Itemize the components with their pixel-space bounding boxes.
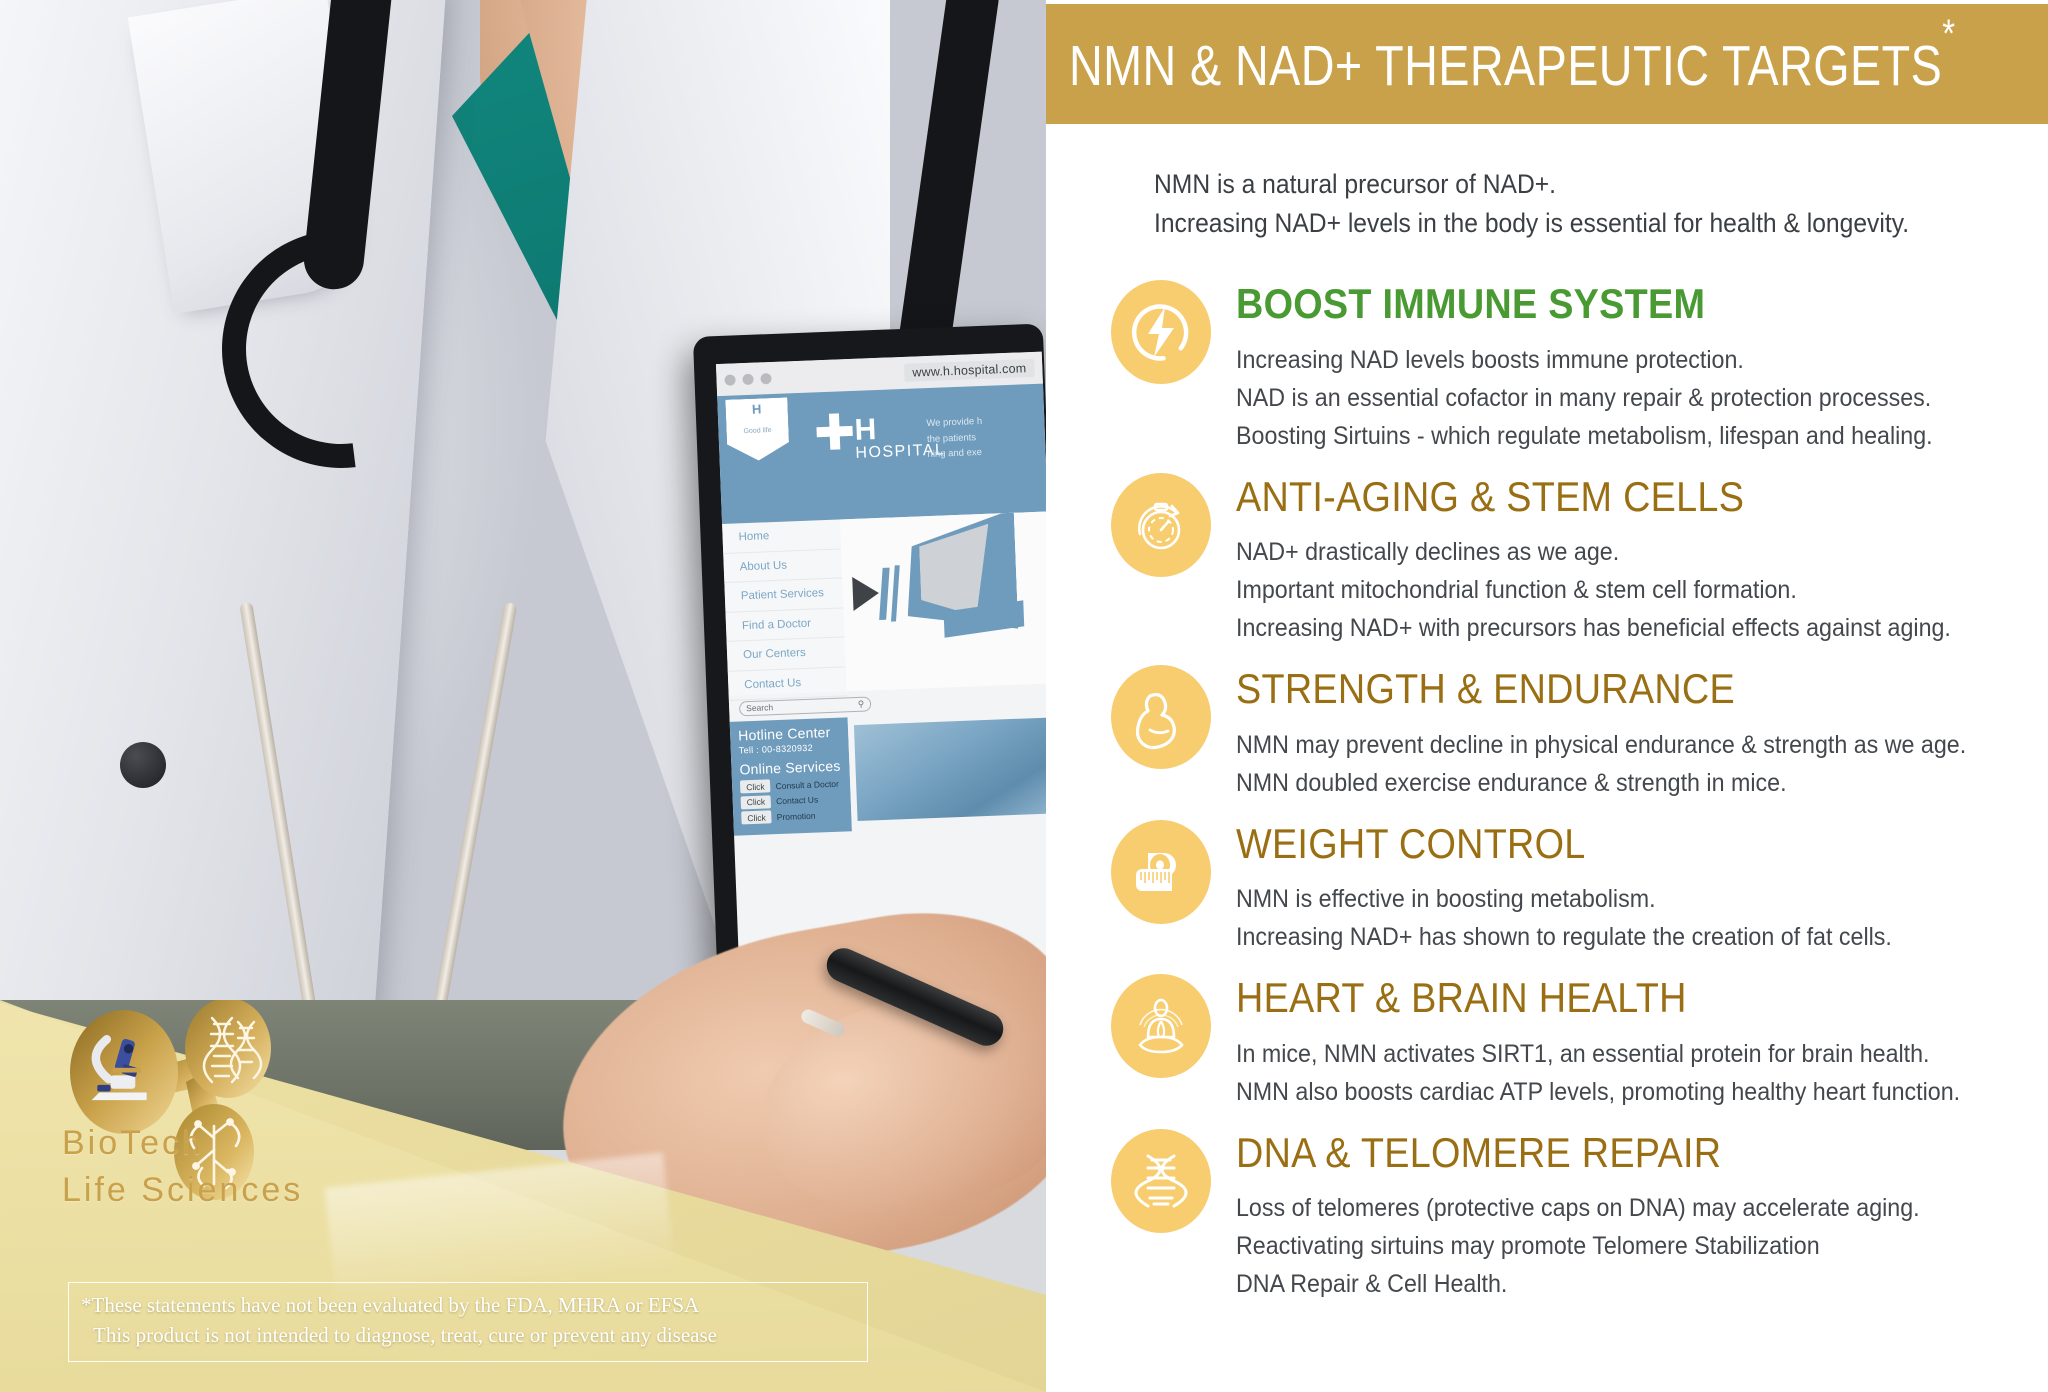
logo-h-letter: H	[854, 413, 877, 447]
benefit-line: Increasing NAD levels boosts immune prot…	[1236, 341, 1933, 379]
benefit-dna-telomere-repair: DNA & TELOMERE REPAIR Loss of telomeres …	[1046, 1129, 2048, 1304]
site-nav: Home About Us Patient Services Find a Do…	[722, 519, 847, 695]
icon-wrap-anti-aging	[1046, 473, 1214, 648]
site-tagline-line1: We provide h	[926, 414, 982, 432]
nav-item-our-centers[interactable]: Our Centers	[727, 637, 846, 671]
benefits-list: BOOST IMMUNE SYSTEM Increasing NAD level…	[1046, 280, 2048, 1321]
benefit-title-dna: DNA & TELOMERE REPAIR	[1236, 1131, 1898, 1176]
service-label-promotion: Promotion	[777, 810, 816, 821]
site-header: H Good life H HOSPITAL We provide h the …	[717, 384, 1046, 524]
benefit-body-weight: WEIGHT CONTROL NMN is effective in boost…	[1214, 820, 1941, 957]
hotline-phone: Tell : 00-8320932	[739, 741, 849, 755]
patient-photo	[854, 718, 1046, 821]
benefit-line: NMN may prevent decline in physical endu…	[1236, 726, 1966, 764]
benefit-body-strength: STRENGTH & ENDURANCE NMN may prevent dec…	[1214, 665, 2021, 802]
service-label-contact: Contact Us	[776, 795, 818, 807]
brand-line-1: BioTech	[62, 1120, 303, 1167]
benefit-line: Increasing NAD+ with precursors has bene…	[1236, 609, 1951, 647]
icon-wrap-dna	[1046, 1129, 1214, 1304]
benefit-line: NMN doubled exercise endurance & strengt…	[1236, 764, 1966, 802]
benefit-line: Loss of telomeres (protective caps on DN…	[1236, 1189, 1920, 1227]
site-footer: Hotline Center Tell : 00-8320932 Online …	[730, 709, 1046, 835]
benefit-heart-brain-health: HEART & BRAIN HEALTH In mice, NMN activa…	[1046, 974, 2048, 1111]
benefit-body-heart-brain: HEART & BRAIN HEALTH In mice, NMN activa…	[1214, 974, 2015, 1111]
nav-item-find-a-doctor[interactable]: Find a Doctor	[725, 608, 844, 642]
brand-name: BioTech Life Sciences	[62, 1120, 303, 1214]
hero-bar-1	[879, 568, 889, 620]
click-button-consult[interactable]: Click	[740, 779, 771, 793]
brand-line-2: Life Sciences	[62, 1167, 303, 1214]
benefit-line: NMN also boosts cardiac ATP levels, prom…	[1236, 1073, 1960, 1111]
benefit-weight-control: WEIGHT CONTROL NMN is effective in boost…	[1046, 820, 2048, 957]
footer-image-panel	[848, 709, 1046, 830]
search-placeholder: Search	[746, 702, 773, 713]
click-button-contact[interactable]: Click	[741, 795, 772, 809]
hotline-panel: Hotline Center Tell : 00-8320932 Online …	[730, 717, 852, 835]
benefit-anti-aging-stem-cells: ANTI-AGING & STEM CELLS NAD+ drastically…	[1046, 473, 2048, 648]
nav-item-contact-us[interactable]: Contact Us	[728, 667, 847, 701]
content-panel: NMN & NAD+ THERAPEUTIC TARGETS* NMN is a…	[1046, 0, 2048, 1392]
benefit-line: Increasing NAD+ has shown to regulate th…	[1236, 918, 1892, 956]
nav-item-about-us[interactable]: About Us	[723, 549, 842, 583]
address-bar[interactable]: www.h.hospital.com	[904, 359, 1035, 382]
icon-wrap-strength	[1046, 665, 1214, 802]
play-triangle-icon[interactable]	[852, 576, 879, 611]
medical-cross-icon	[816, 413, 853, 450]
benefit-title-immune: BOOST IMMUNE SYSTEM	[1236, 282, 1910, 327]
hotline-title: Hotline Center	[738, 723, 849, 743]
page-title-asterisk: *	[1942, 12, 1955, 56]
benefit-body-anti-aging: ANTI-AGING & STEM CELLS NAD+ drastically…	[1214, 473, 2005, 648]
benefit-line: Boosting Sirtuins - which regulate metab…	[1236, 417, 1933, 455]
benefit-title-anti-aging: ANTI-AGING & STEM CELLS	[1236, 475, 1928, 520]
benefit-line: Important mitochondrial function & stem …	[1236, 571, 1951, 609]
page-title: NMN & NAD+ THERAPEUTIC TARGETS*	[1046, 30, 1955, 99]
site-hero-graphic	[840, 511, 1046, 691]
benefit-line: NAD is an essential cofactor in many rep…	[1236, 379, 1933, 417]
benefit-line: DNA Repair & Cell Health.	[1236, 1265, 1920, 1303]
window-close-dot-icon[interactable]	[724, 374, 735, 385]
click-button-promotion[interactable]: Click	[741, 810, 772, 824]
benefit-body-immune: BOOST IMMUNE SYSTEM Increasing NAD level…	[1214, 280, 1985, 455]
site-badge: H Good life	[725, 397, 789, 461]
page-title-text: NMN & NAD+ THERAPEUTIC TARGETS	[1069, 34, 1942, 98]
online-services-title: Online Services	[739, 757, 850, 777]
intro-line-2: Increasing NAD+ levels in the body is es…	[1154, 204, 1917, 243]
benefit-title-weight: WEIGHT CONTROL	[1236, 822, 1871, 867]
tape-measure-icon	[1111, 820, 1211, 924]
meditating-person-icon	[1111, 974, 1211, 1078]
icon-wrap-weight	[1046, 820, 1214, 957]
icon-wrap-heart-brain	[1046, 974, 1214, 1111]
flexed-bicep-icon	[1111, 665, 1211, 769]
benefit-title-heart-brain: HEART & BRAIN HEALTH	[1236, 976, 1937, 1021]
poster-page: www.h.hospital.com H Good life H HOSPITA…	[0, 0, 2048, 1392]
site-tagline: We provide h the patients ning and exe	[926, 414, 984, 463]
disclaimer-line-2: This product is not intended to diagnose…	[81, 1321, 855, 1351]
search-icon[interactable]: ⚲	[858, 698, 865, 709]
benefit-line: NAD+ drastically declines as we age.	[1236, 533, 1951, 571]
doctor-photo-panel: www.h.hospital.com H Good life H HOSPITA…	[0, 0, 1046, 1392]
disclaimer-line-1: *These statements have not been evaluate…	[81, 1291, 855, 1321]
service-label-consult: Consult a Doctor	[775, 778, 839, 790]
header-bar: NMN & NAD+ THERAPEUTIC TARGETS*	[1046, 4, 2048, 124]
tablet-screen: www.h.hospital.com H Good life H HOSPITA…	[716, 352, 1046, 990]
badge-h-letter: H	[725, 401, 787, 417]
lightning-bolt-icon	[1111, 280, 1211, 384]
benefit-line: NMN is effective in boosting metabolism.	[1236, 880, 1892, 918]
intro-text: NMN is a natural precursor of NAD+. Incr…	[1154, 165, 1917, 243]
intro-line-1: NMN is a natural precursor of NAD+.	[1154, 165, 1917, 204]
nav-item-home[interactable]: Home	[722, 519, 841, 553]
stopwatch-icon	[1111, 473, 1211, 577]
hero-bar-2	[891, 565, 900, 621]
benefit-title-strength: STRENGTH & ENDURANCE	[1236, 667, 1943, 712]
window-maximize-dot-icon[interactable]	[760, 372, 771, 383]
service-row-contact[interactable]: Click Contact Us	[741, 792, 851, 809]
site-tagline-line3: ning and exe	[927, 445, 983, 463]
service-row-promotion[interactable]: Click Promotion	[741, 807, 851, 824]
service-row-consult[interactable]: Click Consult a Doctor	[740, 776, 850, 793]
benefit-strength-endurance: STRENGTH & ENDURANCE NMN may prevent dec…	[1046, 665, 2048, 802]
badge-tagline: Good life	[726, 426, 788, 435]
nav-item-patient-services[interactable]: Patient Services	[724, 578, 843, 612]
coat-button	[120, 742, 166, 788]
benefit-boost-immune-system: BOOST IMMUNE SYSTEM Increasing NAD level…	[1046, 280, 2048, 455]
benefit-line: In mice, NMN activates SIRT1, an essenti…	[1236, 1035, 1960, 1073]
benefit-body-dna: DNA & TELOMERE REPAIR Loss of telomeres …	[1214, 1129, 1971, 1304]
site-body: Home About Us Patient Services Find a Do…	[722, 511, 1046, 695]
benefit-line: Reactivating sirtuins may promote Telome…	[1236, 1227, 1920, 1265]
dna-helix-icon	[1111, 1129, 1211, 1233]
icon-wrap-immune	[1046, 280, 1214, 455]
window-minimize-dot-icon[interactable]	[742, 373, 753, 384]
disclaimer-box: *These statements have not been evaluate…	[68, 1282, 868, 1362]
